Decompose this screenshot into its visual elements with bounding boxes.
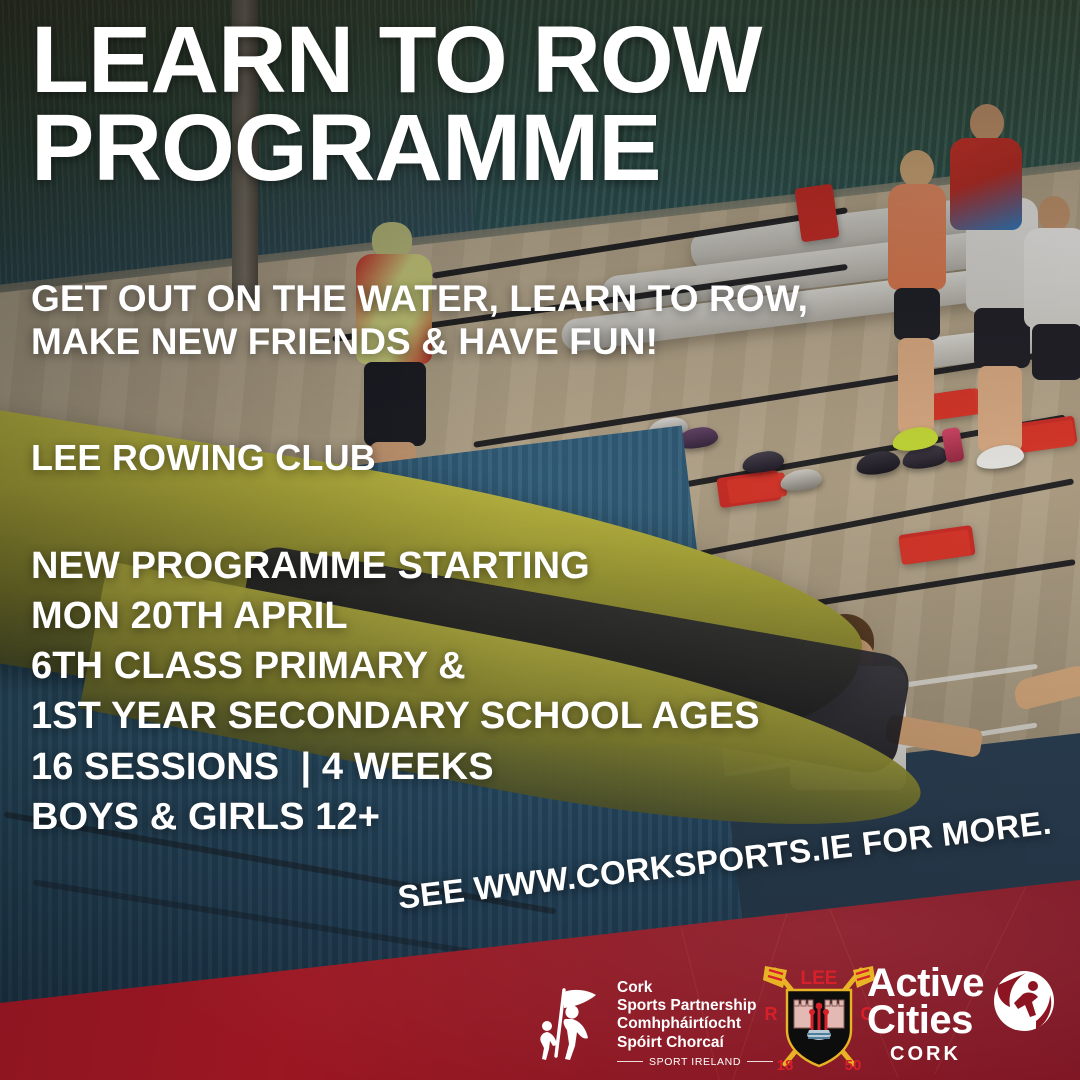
cork-sports-partnership-logo: Cork Sports Partnership Comhpháirtíocht … <box>534 979 773 1068</box>
detail-line-2: MON 20TH APRIL <box>31 591 931 641</box>
active-cities-cork-logo: Active Cities CORK <box>867 965 1056 1066</box>
active-figure-circle-icon <box>992 969 1056 1033</box>
csp-line-3: Comhpháirtíocht <box>617 1015 773 1033</box>
csp-line-4: Spóirt Chorcaí <box>617 1034 773 1052</box>
subtitle-line-1: GET OUT ON THE WATER, LEARN TO ROW, <box>31 277 931 320</box>
headline-line-1: LEARN TO ROW <box>31 16 1031 104</box>
sport-ireland-endorsement: SPORT IRELAND <box>617 1056 773 1068</box>
csp-line-1: Cork <box>617 979 773 997</box>
crest-left-letter: R <box>765 1004 778 1024</box>
detail-line-3: 6TH CLASS PRIMARY & <box>31 641 931 691</box>
subtitle-line-2: MAKE NEW FRIENDS & HAVE FUN! <box>31 320 931 363</box>
crest-top-text: LEE <box>801 968 838 989</box>
active-cities-wordmark: Active Cities CORK <box>867 965 984 1066</box>
csp-wordmark: Cork Sports Partnership Comhpháirtíocht … <box>617 979 773 1068</box>
ac-line-2: Cities <box>867 1002 984 1039</box>
crest-year-right: 50 <box>845 1057 862 1072</box>
ac-line-3: CORK <box>867 1043 984 1066</box>
sport-ireland-label: SPORT IRELAND <box>649 1056 741 1068</box>
csp-line-2: Sports Partnership <box>617 997 773 1015</box>
detail-line-4: 1ST YEAR SECONDARY SCHOOL AGES <box>31 691 931 741</box>
crest-year-left: 18 <box>777 1057 794 1072</box>
poster-root: LEARN TO ROW PROGRAMME GET OUT ON THE WA… <box>0 0 1080 1080</box>
page-title: LEARN TO ROW PROGRAMME <box>31 16 1031 193</box>
headline-line-2: PROGRAMME <box>31 104 1031 192</box>
detail-line-1: NEW PROGRAMME STARTING <box>31 541 931 591</box>
subtitle: GET OUT ON THE WATER, LEARN TO ROW, MAKE… <box>31 277 931 364</box>
club-name: LEE ROWING CLUB <box>31 437 376 479</box>
programme-details: NEW PROGRAMME STARTING MON 20TH APRIL 6T… <box>31 541 931 842</box>
csp-figures-icon <box>534 986 606 1062</box>
lee-rowing-club-crest: LEE R C 18 50 <box>757 964 881 1072</box>
rule-left <box>617 1061 643 1062</box>
ac-line-1: Active <box>867 965 984 1002</box>
detail-line-5: 16 SESSIONS | 4 WEEKS <box>31 742 931 792</box>
